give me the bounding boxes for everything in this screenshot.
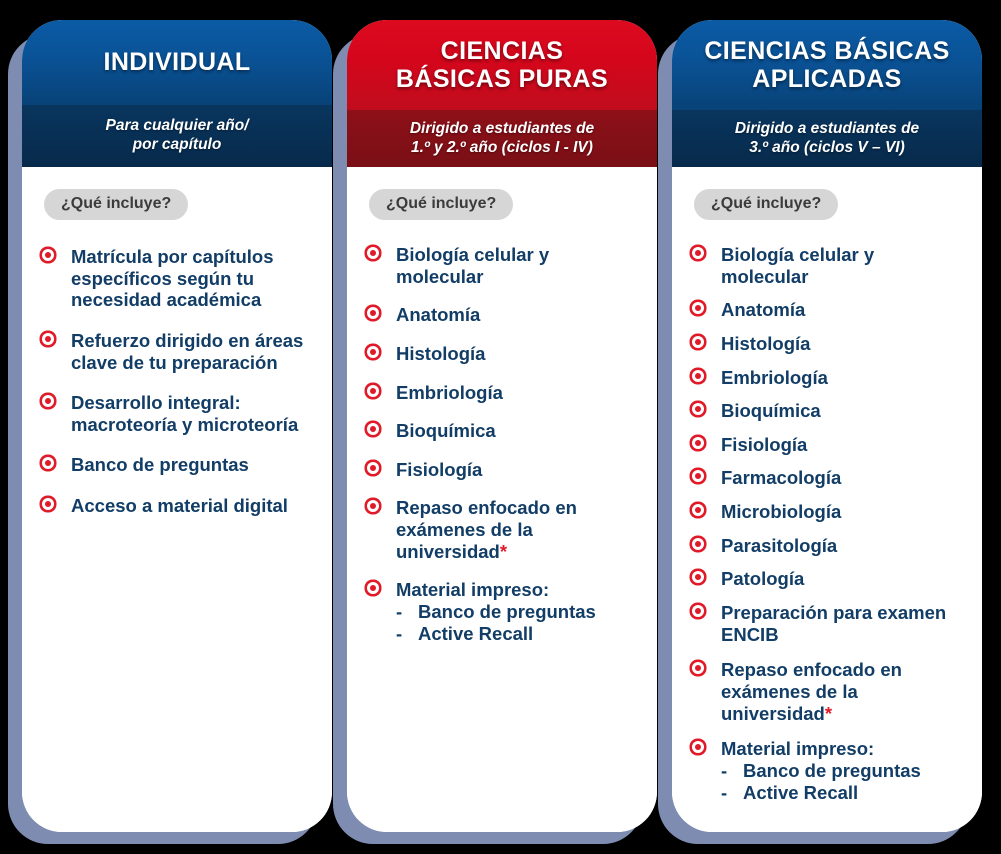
feature-text: Bioquímica [721,400,821,421]
feature-text: Biología celular y molecular [721,244,874,287]
list-item: Anatomía [369,304,639,326]
list-item: Anatomía [694,299,964,321]
card-subtitle-line-1: Dirigido a estudiantes de [735,120,919,137]
sub-feature-text: Active Recall [418,623,533,644]
feature-text: Repaso enfocado en exámenes de la univer… [396,497,577,561]
card-title: CIENCIAS BÁSICAS PURAS [347,20,657,110]
sub-feature-text: Banco de preguntas [418,601,596,622]
asterisk-marker: * [500,541,507,562]
list-item: Repaso enfocado en exámenes de la univer… [694,659,964,724]
feature-text: Parasitología [721,535,837,556]
feature-text: Fisiología [721,434,807,455]
list-item: Biología celular y molecular [694,244,964,287]
feature-text: Preparación para examen ENCIB [721,602,946,645]
feature-list: Biología celular y molecular Anatomía Hi… [369,244,639,645]
feature-text: Desarrollo integral: macroteoría y micro… [71,392,298,435]
feature-text: Embriología [721,367,828,388]
list-item: Desarrollo integral: macroteoría y micro… [44,392,314,435]
list-item: Matrícula por capítulos específicos segú… [44,246,314,311]
card-ciencias-basicas-aplicadas[interactable]: CIENCIAS BÁSICAS APLICADAS Dirigido a es… [672,20,982,832]
list-item: Preparación para examen ENCIB [694,602,964,645]
card-subtitle-line-1: Dirigido a estudiantes de [410,120,594,137]
card-subtitle-line-1: Para cualquier año/ [106,117,249,134]
list-item: Material impreso: Banco de preguntas Act… [694,738,964,803]
list-item: Acceso a material digital [44,495,314,517]
list-item: Parasitología [694,535,964,557]
list-item: Histología [369,343,639,365]
card-body-individual: ¿Qué incluye? Matrícula por capítulos es… [22,167,332,832]
includes-badge: ¿Qué incluye? [694,189,838,220]
card-title: INDIVIDUAL [22,20,332,105]
includes-badge: ¿Qué incluye? [369,189,513,220]
sub-list-item: Active Recall [721,782,964,804]
feature-text: Repaso enfocado en exámenes de la univer… [721,659,902,723]
sub-list-item: Banco de preguntas [721,760,964,782]
card-title-line-2: BÁSICAS PURAS [396,65,608,93]
list-item: Banco de preguntas [44,454,314,476]
card-subtitle-line-2: 3.º año (ciclos V – VI) [749,139,905,156]
asterisk-marker: * [825,703,832,724]
list-item: Repaso enfocado en exámenes de la univer… [369,497,639,562]
list-item: Biología celular y molecular [369,244,639,287]
feature-text: Embriología [396,382,503,403]
card-header-ciencias-basicas-aplicadas: CIENCIAS BÁSICAS APLICADAS Dirigido a es… [672,20,982,167]
card-header-individual: INDIVIDUAL Para cualquier año/ por capít… [22,20,332,167]
feature-text: Biología celular y molecular [396,244,549,287]
card-title-line-2: APLICADAS [752,65,901,93]
list-item: Microbiología [694,501,964,523]
feature-text: Bioquímica [396,420,496,441]
card-body-ciencias-basicas-puras: ¿Qué incluye? Biología celular y molecul… [347,167,657,832]
feature-text: Refuerzo dirigido en áreas clave de tu p… [71,330,303,373]
card-body-ciencias-basicas-aplicadas: ¿Qué incluye? Biología celular y molecul… [672,167,982,832]
feature-text: Patología [721,568,804,589]
feature-list: Matrícula por capítulos específicos segú… [44,246,314,517]
sub-list-item: Banco de preguntas [396,601,639,623]
sub-feature-list: Banco de preguntas Active Recall [721,760,964,804]
sub-list-item: Active Recall [396,623,639,645]
feature-text: Microbiología [721,501,841,522]
list-item: Embriología [369,382,639,404]
feature-text: Histología [721,333,810,354]
feature-text: Matrícula por capítulos específicos segú… [71,246,274,310]
comparison-cards-graphic: INDIVIDUAL Para cualquier año/ por capít… [0,0,1001,854]
list-item: Refuerzo dirigido en áreas clave de tu p… [44,330,314,373]
feature-text: Material impreso: [721,738,874,759]
list-item: Fisiología [369,459,639,481]
card-subtitle: Para cualquier año/ por capítulo [22,105,332,167]
list-item: Histología [694,333,964,355]
list-item: Embriología [694,367,964,389]
card-title: CIENCIAS BÁSICAS APLICADAS [672,20,982,110]
feature-text: Banco de preguntas [71,454,249,475]
sub-feature-text: Banco de preguntas [743,760,921,781]
card-header-ciencias-basicas-puras: CIENCIAS BÁSICAS PURAS Dirigido a estudi… [347,20,657,167]
list-item: Patología [694,568,964,590]
card-individual[interactable]: INDIVIDUAL Para cualquier año/ por capít… [22,20,332,832]
sub-feature-text: Active Recall [743,782,858,803]
feature-text: Histología [396,343,485,364]
card-subtitle-line-2: 1.º y 2.º año (ciclos I - IV) [411,139,593,156]
list-item: Fisiología [694,434,964,456]
card-subtitle: Dirigido a estudiantes de 3.º año (ciclo… [672,110,982,167]
card-title-line-1: CIENCIAS [441,37,564,65]
sub-feature-list: Banco de preguntas Active Recall [396,601,639,645]
list-item: Bioquímica [369,420,639,442]
card-subtitle-line-2: por capítulo [133,136,222,153]
card-title-line-1: CIENCIAS BÁSICAS [704,37,949,65]
feature-text: Fisiología [396,459,482,480]
feature-text: Material impreso: [396,579,549,600]
feature-list: Biología celular y molecular Anatomía Hi… [694,244,964,804]
feature-text: Farmacología [721,467,841,488]
list-item: Bioquímica [694,400,964,422]
feature-text: Acceso a material digital [71,495,288,516]
list-item: Farmacología [694,467,964,489]
card-ciencias-basicas-puras[interactable]: CIENCIAS BÁSICAS PURAS Dirigido a estudi… [347,20,657,832]
feature-text: Anatomía [721,299,805,320]
includes-badge: ¿Qué incluye? [44,189,188,220]
card-subtitle: Dirigido a estudiantes de 1.º y 2.º año … [347,110,657,167]
list-item: Material impreso: Banco de preguntas Act… [369,579,639,644]
feature-text: Anatomía [396,304,480,325]
